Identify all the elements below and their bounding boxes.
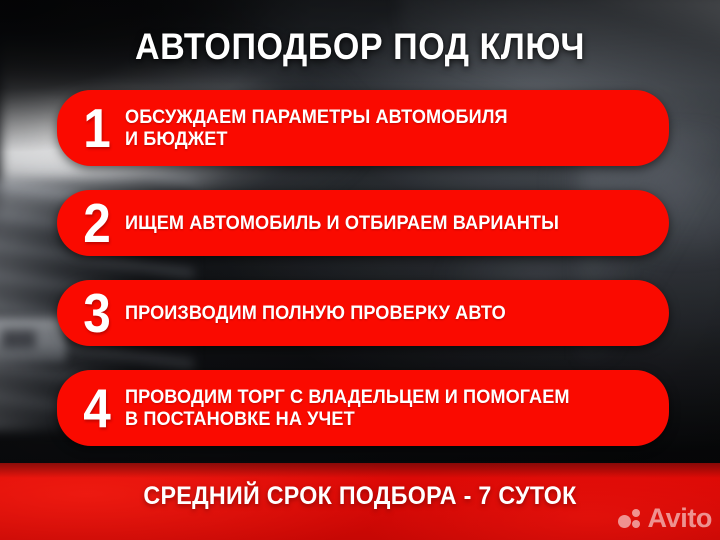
step-text-2: ИЩЕМ АВТОМОБИЛЬ И ОТБИРАЕМ ВАРИАНТЫ [125,212,631,234]
step-text-3: ПРОИЗВОДИМ ПОЛНУЮ ПРОВЕРКУ АВТО [125,302,631,324]
step-text-1: ОБСУЖДАЕМ ПАРАМЕТРЫ АВТОМОБИЛЯ И БЮДЖЕТ [125,106,631,150]
step-number-3: 3 [71,285,123,341]
avito-brand-label: Avito [648,505,713,532]
step-card-1: 1 ОБСУЖДАЕМ ПАРАМЕТРЫ АВТОМОБИЛЯ И БЮДЖЕ… [57,90,669,166]
background-vignette [0,0,720,540]
step-text-line: И БЮДЖЕТ [125,128,631,150]
step-text-line: ПРОИЗВОДИМ ПОЛНУЮ ПРОВЕРКУ АВТО [125,302,631,324]
footer-text: СРЕДНИЙ СРОК ПОДБОРА - 7 СУТОК [25,481,695,511]
promo-banner: АВТОПОДБОР ПОД КЛЮЧ 1 ОБСУЖДАЕМ ПАРАМЕТР… [0,0,720,540]
page-title: АВТОПОДБОР ПОД КЛЮЧ [29,25,691,69]
step-text-4: ПРОВОДИМ ТОРГ С ВЛАДЕЛЬЦЕМ И ПОМОГАЕМ В … [125,386,631,430]
step-card-3: 3 ПРОИЗВОДИМ ПОЛНУЮ ПРОВЕРКУ АВТО [57,280,669,346]
step-text-line: В ПОСТАНОВКЕ НА УЧЕТ [125,408,631,430]
step-number-4: 4 [71,380,123,436]
step-text-line: ИЩЕМ АВТОМОБИЛЬ И ОТБИРАЕМ ВАРИАНТЫ [125,212,631,234]
step-text-line: ОБСУЖДАЕМ ПАРАМЕТРЫ АВТОМОБИЛЯ [125,106,631,128]
step-number-1: 1 [71,100,123,156]
step-text-line: ПРОВОДИМ ТОРГ С ВЛАДЕЛЬЦЕМ И ПОМОГАЕМ [125,386,631,408]
step-number-2: 2 [71,195,123,251]
step-card-2: 2 ИЩЕМ АВТОМОБИЛЬ И ОТБИРАЕМ ВАРИАНТЫ [57,190,669,256]
avito-watermark: Avito [618,505,713,532]
step-card-4: 4 ПРОВОДИМ ТОРГ С ВЛАДЕЛЬЦЕМ И ПОМОГАЕМ … [57,370,669,446]
footer-banner: СРЕДНИЙ СРОК ПОДБОРА - 7 СУТОК [0,463,720,540]
avito-dots-icon [618,507,644,531]
